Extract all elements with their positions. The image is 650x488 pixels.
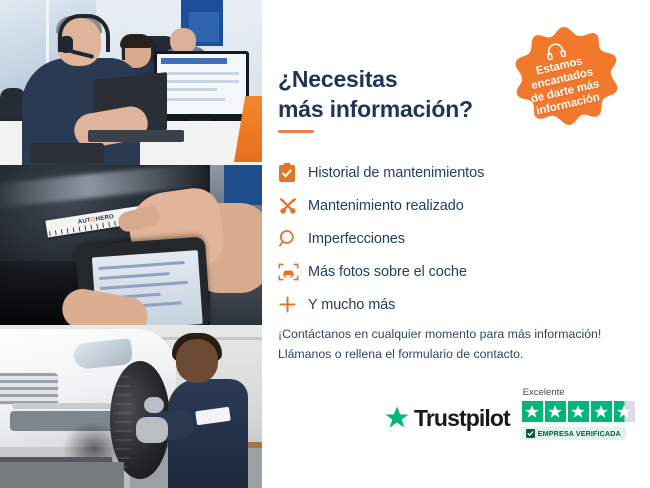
monitor-row — [163, 88, 217, 91]
trustpilot-logo[interactable]: Trustpilot — [384, 405, 510, 432]
trustpilot-wordmark: Trustpilot — [414, 405, 510, 432]
trustpilot-rating-label: Excelente — [523, 387, 565, 398]
clipboard-check-icon — [278, 163, 308, 183]
verified-label: EMPRESA VERIFICADA — [538, 429, 621, 438]
title-divider — [278, 130, 314, 133]
information-banner: AUTOHERO — [0, 0, 650, 488]
headline-line-2: más información? — [278, 96, 473, 122]
agent-mid-headset-icon — [122, 35, 156, 60]
car-inspection-ruler-photo: AUTOHERO — [0, 165, 262, 325]
monitor-app-bar — [161, 58, 227, 64]
star-filled — [591, 401, 612, 422]
monitor-screen — [157, 54, 246, 114]
headline-line-1: ¿Necesitas — [278, 66, 397, 92]
contact-copy: ¡Contáctanos en cualquier momento para m… — [278, 325, 638, 365]
car-grille — [0, 373, 58, 405]
mechanic-head — [176, 339, 218, 383]
inspector-shirt — [224, 165, 262, 205]
trustpilot-widget[interactable]: Trustpilot Excelente — [384, 387, 635, 440]
contact-line-2: Llámanos o rellena el formulario de cont… — [278, 345, 638, 365]
feature-item-fotos: Más fotos sobre el coche — [278, 255, 608, 288]
mechanic-tyre-photo — [0, 325, 262, 488]
feature-list: Historial de mantenimientos M — [278, 156, 608, 321]
desk-tablet — [30, 143, 104, 163]
car-photo-frame-icon — [278, 262, 308, 282]
feature-item-imperfecciones: Imperfecciones — [278, 222, 608, 255]
feature-label: Mantenimiento realizado — [308, 198, 464, 214]
car-lift-base — [0, 462, 124, 488]
feature-label: Y mucho más — [308, 297, 395, 313]
trustpilot-star-icon — [384, 405, 410, 431]
monitor-row — [163, 80, 239, 83]
tyre-tread — [114, 367, 132, 473]
mechanic-glove-upper — [144, 397, 164, 413]
desktop-monitor — [154, 51, 249, 121]
magnifier-icon — [278, 229, 308, 248]
mechanic-glove — [136, 417, 168, 443]
content-panel: ¿Necesitas más información? Estamos enca… — [262, 0, 650, 488]
tablet-row — [100, 281, 188, 290]
trustpilot-stars — [522, 401, 635, 422]
support-badge: Estamos encantados de darte más informac… — [502, 25, 626, 149]
car-headlight — [73, 338, 133, 370]
tablet-row — [99, 272, 169, 280]
tools-cross-icon — [278, 196, 308, 216]
feature-item-mantenimiento: Mantenimiento realizado — [278, 189, 608, 222]
photo-column: AUTOHERO — [0, 0, 262, 488]
feature-label: Más fotos sobre el coche — [308, 264, 467, 280]
badge-text: Estamos encantados de darte más informac… — [524, 53, 604, 120]
call-center-agents-photo — [0, 0, 262, 165]
feature-item-historial: Historial de mantenimientos — [278, 156, 608, 189]
star-filled — [568, 401, 589, 422]
trustpilot-rating: Excelente — [522, 387, 635, 440]
monitor-row — [163, 98, 225, 101]
feature-label: Historial de mantenimientos — [308, 165, 484, 181]
star-half — [614, 401, 635, 422]
monitor-row — [163, 72, 239, 75]
page-title: ¿Necesitas más información? — [278, 65, 473, 124]
plus-icon — [278, 295, 308, 314]
status-badge: EMPRESA VERIFICADA — [522, 427, 626, 440]
star-filled — [522, 401, 543, 422]
tablet-row — [99, 261, 185, 270]
contact-line-1: ¡Contáctanos en cualquier momento para m… — [278, 325, 638, 345]
laptop-keyboard — [88, 130, 184, 142]
feature-label: Imperfecciones — [308, 231, 405, 247]
star-filled — [545, 401, 566, 422]
feature-item-mucho-mas: Y mucho más — [278, 288, 608, 321]
check-square-icon — [526, 429, 535, 438]
